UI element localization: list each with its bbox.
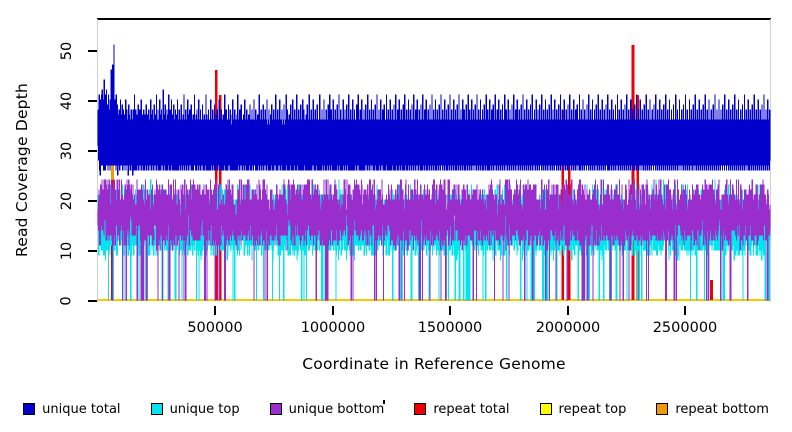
chart-traces <box>0 0 792 432</box>
series-unique-top <box>98 180 770 300</box>
x-tick-label-2000000: 2000000 <box>508 320 628 336</box>
series-unique-total <box>98 45 770 175</box>
chart-legend: unique total unique top unique bottom re… <box>0 398 792 420</box>
series-repeat-total <box>112 45 711 300</box>
x-tick-label-2500000: 2500000 <box>625 320 745 336</box>
legend-swatch-icon <box>23 403 35 415</box>
plot-top-border <box>97 18 771 20</box>
y-tick-label-text: 10 <box>59 242 75 260</box>
legend-swatch-icon <box>414 403 426 415</box>
y-tick-label-text: 40 <box>59 92 75 110</box>
x-tick-2500000 <box>684 306 686 315</box>
x-tick-1500000 <box>449 306 451 315</box>
y-tick-10 <box>88 250 97 252</box>
y-tick-label-text: 20 <box>59 192 75 210</box>
x-tick-500000 <box>214 306 216 315</box>
y-tick-30 <box>88 150 97 152</box>
x-tick-label-500000: 500000 <box>155 320 275 336</box>
y-tick-50 <box>88 50 97 52</box>
legend-item-repeat-bottom: repeat bottom <box>656 402 769 417</box>
y-tick-label-0: 0 <box>52 286 82 316</box>
y-tick-label-20: 20 <box>52 186 82 216</box>
y-tick-40 <box>88 100 97 102</box>
legend-label: unique total <box>42 402 120 417</box>
y-tick-label-10: 10 <box>52 236 82 266</box>
y-tick-0 <box>88 300 97 302</box>
legend-item-repeat-top: repeat top <box>540 402 627 417</box>
x-tick-1000000 <box>332 306 334 315</box>
legend-swatch-icon <box>151 403 163 415</box>
plot-area: 50 40 30 20 10 0 500000 1000000 1500000 … <box>0 0 792 432</box>
legend-swatch-icon <box>656 403 668 415</box>
legend-item-unique-bottom: unique bottom <box>270 402 385 417</box>
legend-label: unique bottom <box>289 402 385 417</box>
series-repeat-bottom <box>98 150 770 300</box>
legend-label: unique top <box>170 402 240 417</box>
legend-swatch-icon <box>270 403 282 415</box>
series-repeat-top <box>98 160 770 300</box>
y-tick-20 <box>88 200 97 202</box>
legend-swatch-icon <box>540 403 552 415</box>
legend-item-repeat-total: repeat total <box>414 402 509 417</box>
x-tick-label-1500000: 1500000 <box>390 320 510 336</box>
legend-stray-mark <box>383 400 385 404</box>
legend-label: repeat bottom <box>675 402 769 417</box>
y-tick-label-40: 40 <box>52 86 82 116</box>
y-tick-label-50: 50 <box>52 36 82 66</box>
chart-root: Read Coverage Depth Coordinate in Refere… <box>0 0 792 432</box>
y-tick-label-text: 50 <box>59 42 75 60</box>
legend-label: repeat top <box>559 402 627 417</box>
plot-right-border <box>770 19 771 302</box>
series-unique-bottom <box>98 180 770 300</box>
legend-label: repeat total <box>433 402 509 417</box>
y-tick-label-text: 30 <box>59 142 75 160</box>
y-tick-label-30: 30 <box>52 136 82 166</box>
y-tick-label-text: 0 <box>59 296 75 305</box>
legend-item-unique-total: unique total <box>23 402 120 417</box>
plot-left-border <box>97 19 98 302</box>
x-tick-2000000 <box>567 306 569 315</box>
x-tick-label-1000000: 1000000 <box>273 320 393 336</box>
legend-item-unique-top: unique top <box>151 402 240 417</box>
